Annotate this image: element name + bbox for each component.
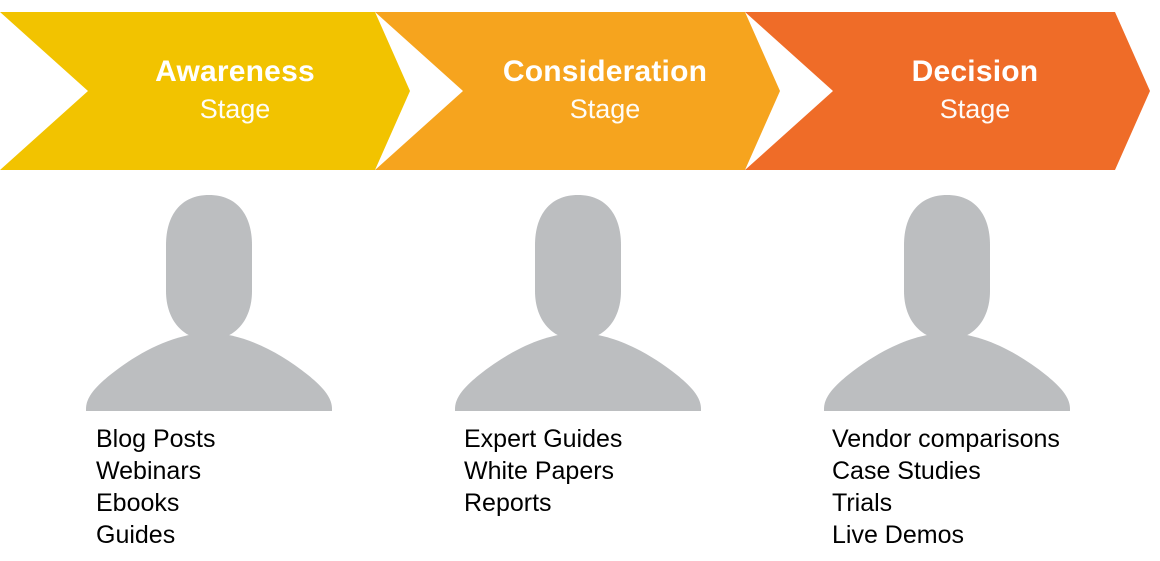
stage-banner-consideration[interactable]: Consideration Stage (375, 12, 780, 170)
stage-banner-decision[interactable]: Decision Stage (745, 12, 1150, 170)
content-list-consideration: Expert Guides White Papers Reports (464, 423, 622, 519)
stage-subtitle-consideration: Stage (570, 96, 641, 123)
stage-banner-awareness-text: Awareness Stage (155, 57, 315, 123)
content-list-awareness: Blog Posts Webinars Ebooks Guides (96, 423, 216, 551)
list-item: Case Studies (832, 455, 1060, 487)
list-item: Guides (96, 519, 216, 551)
list-item: Expert Guides (464, 423, 622, 455)
list-item: White Papers (464, 455, 622, 487)
list-item: Blog Posts (96, 423, 216, 455)
list-item: Vendor comparisons (832, 423, 1060, 455)
stage-banner-row: Awareness Stage Consideration Stage Deci… (0, 12, 1160, 170)
persona-icon-row (0, 193, 1160, 411)
list-item: Ebooks (96, 487, 216, 519)
stage-banner-decision-text: Decision Stage (912, 57, 1039, 123)
list-item: Trials (832, 487, 1060, 519)
buyer-journey-diagram: Awareness Stage Consideration Stage Deci… (0, 0, 1160, 561)
content-list-row: Blog Posts Webinars Ebooks Guides Expert… (0, 423, 1160, 561)
stage-subtitle-awareness: Stage (200, 96, 271, 123)
content-list-decision: Vendor comparisons Case Studies Trials L… (832, 423, 1060, 551)
stage-title-consideration: Consideration (503, 57, 707, 87)
stage-title-decision: Decision (912, 57, 1039, 87)
person-silhouette-icon-decision (822, 193, 1072, 411)
list-item: Live Demos (832, 519, 1060, 551)
stage-banner-awareness[interactable]: Awareness Stage (0, 12, 410, 170)
list-item: Reports (464, 487, 622, 519)
list-item: Webinars (96, 455, 216, 487)
stage-subtitle-decision: Stage (940, 96, 1011, 123)
stage-title-awareness: Awareness (155, 57, 315, 87)
person-silhouette-icon-awareness (84, 193, 334, 411)
stage-banner-consideration-text: Consideration Stage (503, 57, 707, 123)
person-silhouette-icon-consideration (453, 193, 703, 411)
